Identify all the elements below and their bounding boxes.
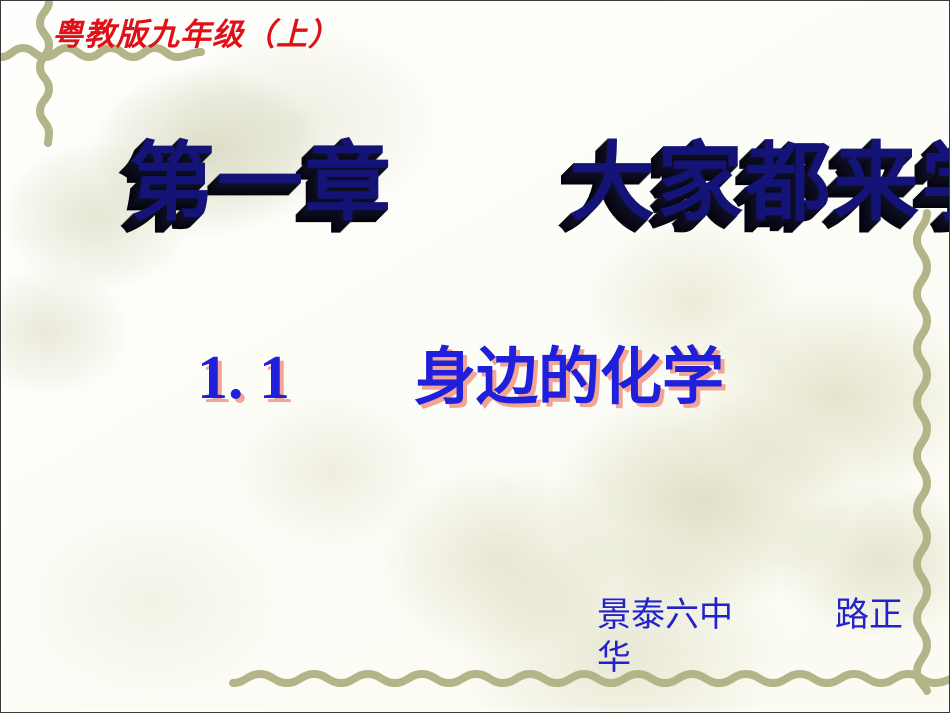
section-subtitle: 1. 1 身边的化学 (197, 341, 837, 415)
author-credit: 景泰六中 路正华 (597, 595, 907, 681)
edition-label: 粤教版九年级（上） (52, 9, 340, 54)
chapter-title: 第一章 大家都来学化学 (129, 133, 829, 234)
right-vertical-wave-decoration (907, 213, 947, 691)
presentation-slide: 粤教版九年级（上） 第一章 大家都来学化学 1. 1 身边的化学 景泰六中 路正… (0, 0, 950, 713)
